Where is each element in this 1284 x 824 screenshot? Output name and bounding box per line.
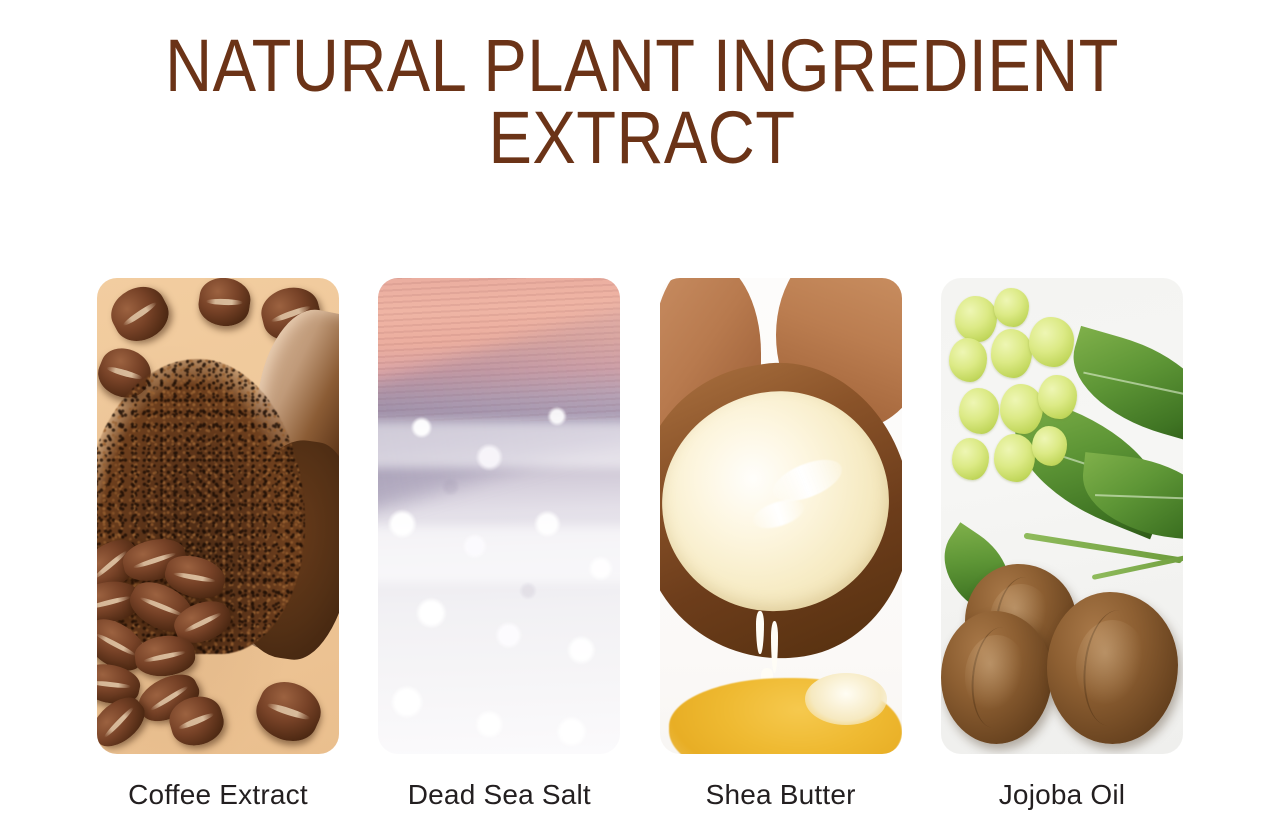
jojoba-flower-icon [994, 434, 1036, 482]
jojoba-flower-icon [994, 288, 1029, 328]
jojoba-flower-cluster [946, 288, 1106, 497]
ingredient-card-shea-butter[interactable] [660, 278, 902, 754]
ingredient-card-coffee-extract[interactable] [97, 278, 339, 754]
jojoba-flower-icon [991, 329, 1033, 377]
ingredient-label-coffee-extract: Coffee Extract [97, 778, 339, 812]
coffee-bean-icon [248, 672, 329, 750]
page-title: NATURAL PLANT INGREDIENT EXTRACT [0, 30, 1284, 174]
jojoba-oil-photo [941, 278, 1183, 754]
coffee-bean-icon [133, 633, 197, 679]
jojoba-stem [1024, 532, 1183, 563]
ingredient-card-dead-sea-salt[interactable] [378, 278, 620, 754]
page-title-line-2: EXTRACT [77, 102, 1207, 174]
coffee-bean-icon [196, 278, 253, 329]
jojoba-flower-icon [959, 388, 999, 434]
coffee-extract-photo [97, 278, 339, 754]
jojoba-seed-icon [941, 611, 1052, 744]
ingredient-card-jojoba-oil[interactable] [941, 278, 1183, 754]
shea-butter-photo [660, 278, 902, 754]
jojoba-seed-icon [1047, 592, 1178, 744]
ingredient-label-jojoba-oil: Jojoba Oil [941, 778, 1183, 812]
jojoba-flower-icon [1038, 375, 1076, 419]
butter-drip [756, 611, 763, 654]
leaf-vein [1095, 494, 1183, 499]
seed-ridge [967, 625, 1028, 731]
salt-crystals [378, 383, 620, 754]
jojoba-flower-icon [1000, 384, 1043, 434]
jojoba-flower-icon [1032, 426, 1067, 466]
jojoba-flower-icon [949, 338, 987, 382]
jojoba-flower-icon [1029, 317, 1074, 367]
ingredient-card-row [97, 278, 1183, 754]
page-title-line-1: NATURAL PLANT INGREDIENT [77, 30, 1207, 102]
jojoba-flower-icon [955, 296, 997, 342]
jojoba-flower-icon [952, 438, 989, 480]
ingredient-label-dead-sea-salt: Dead Sea Salt [378, 778, 620, 812]
butter-drip [771, 621, 778, 673]
seed-ridge [1078, 608, 1149, 729]
ingredient-label-shea-butter: Shea Butter [660, 778, 902, 812]
ingredient-label-row: Coffee Extract Dead Sea Salt Shea Butter… [97, 778, 1183, 812]
dead-sea-salt-photo [378, 278, 620, 754]
coffee-bean-icon [102, 278, 176, 350]
